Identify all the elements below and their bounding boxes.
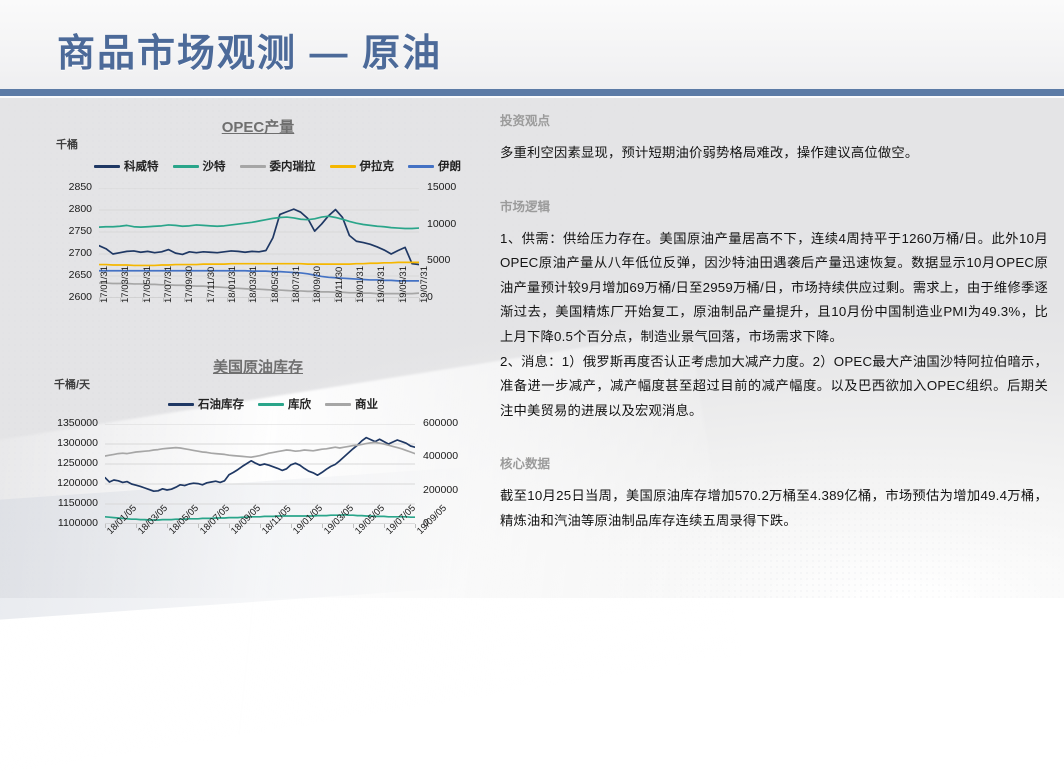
x-tick-label: 18/07/31 xyxy=(291,266,302,303)
x-tick-mark xyxy=(142,298,143,302)
legend-swatch-icon xyxy=(325,403,351,406)
y-tick-label: 1350000 xyxy=(0,417,98,429)
y-tick-label: 2850 xyxy=(0,181,92,193)
section-body-logic-1: 1、供需：供给压力存在。美国原油产量居高不下，连续4周持平于1260万桶/日。此… xyxy=(500,227,1048,350)
x-tick-label: 18/11/30 xyxy=(334,267,345,303)
x-tick-label: 17/09/30 xyxy=(184,266,195,303)
x-tick-mark xyxy=(270,298,271,302)
y2-tick-label: 15000 xyxy=(427,181,456,193)
series-line-3 xyxy=(99,262,419,265)
legend-swatch-icon xyxy=(94,165,120,168)
x-tick-label: 17/11/30 xyxy=(206,267,217,303)
section-heading-data: 核心数据 xyxy=(500,453,1048,472)
legend-swatch-icon xyxy=(173,165,199,168)
legend-item-0: 科威特 xyxy=(94,158,159,174)
header-accent-highlight xyxy=(0,96,1064,98)
y2-tick-label: 200000 xyxy=(423,484,458,496)
legend-label: 石油库存 xyxy=(198,396,244,412)
legend-label: 伊朗 xyxy=(438,158,461,174)
y-tick-label: 1100000 xyxy=(0,517,98,529)
chart-title-opec: OPEC产量 xyxy=(18,116,498,137)
legend-swatch-icon xyxy=(258,403,284,406)
series-line-1 xyxy=(99,216,419,228)
charts-column: OPEC产量 千桶 科威特沙特委内瑞拉伊拉克伊朗 260026502700275… xyxy=(0,104,480,598)
x-tick-mark xyxy=(376,298,377,302)
legend-label: 科威特 xyxy=(124,158,159,174)
legend-swatch-icon xyxy=(240,165,266,168)
x-tick-label: 17/01/31 xyxy=(99,266,110,303)
x-tick-mark xyxy=(291,298,292,302)
x-tick-mark xyxy=(184,298,185,302)
legend-swatch-icon xyxy=(168,403,194,406)
x-tick-mark xyxy=(163,298,164,302)
chart-unit-stocks: 千桶/天 xyxy=(54,376,90,392)
x-tick-mark xyxy=(167,524,168,528)
legend-label: 伊拉克 xyxy=(360,158,395,174)
series-line-0 xyxy=(99,209,419,264)
x-tick-label: 19/05/31 xyxy=(398,266,409,303)
header-accent-rule xyxy=(0,89,1064,96)
x-tick-mark xyxy=(206,298,207,302)
legend-item-3: 伊拉克 xyxy=(330,158,395,174)
y2-tick-label: 600000 xyxy=(423,417,458,429)
y-tick-label: 2650 xyxy=(0,269,92,281)
section-body-logic-2: 2、消息：1）俄罗斯再度否认正考虑加大减产力度。2）OPEC最大产油国沙特阿拉伯… xyxy=(500,350,1048,424)
y2-tick-label: 10000 xyxy=(427,218,456,230)
x-tick-mark xyxy=(312,298,313,302)
x-tick-label: 17/03/31 xyxy=(120,266,131,303)
x-tick-label: 17/07/31 xyxy=(163,266,174,303)
section-body-data: 截至10月25日当周，美国原油库存增加570.2万桶至4.389亿桶，市场预估为… xyxy=(500,484,1048,533)
legend-item-0: 石油库存 xyxy=(168,396,244,412)
section-heading-logic: 市场逻辑 xyxy=(500,196,1048,215)
x-tick-mark xyxy=(105,524,106,528)
legend-item-1: 沙特 xyxy=(173,158,226,174)
legend-swatch-icon xyxy=(330,165,356,168)
y-tick-label: 1300000 xyxy=(0,437,98,449)
x-tick-mark xyxy=(291,524,292,528)
page-title: 商品市场观测 — 原油 xyxy=(57,22,442,77)
x-tick-label: 19/03/31 xyxy=(376,266,387,303)
y-tick-label: 2800 xyxy=(0,203,92,215)
x-tick-mark xyxy=(136,524,137,528)
legend-item-4: 伊朗 xyxy=(408,158,461,174)
x-tick-label: 18/01/31 xyxy=(227,266,238,303)
x-tick-mark xyxy=(322,524,323,528)
series-line-2 xyxy=(105,442,415,457)
legend-item-2: 商业 xyxy=(325,396,378,412)
chart-unit-opec: 千桶 xyxy=(56,136,78,152)
analysis-panel: 投资观点 多重利空因素显现，预计短期油价弱势格局难改，操作建议高位做空。 市场逻… xyxy=(500,110,1048,534)
y-tick-label: 2750 xyxy=(0,225,92,237)
y2-tick-label: 5000 xyxy=(427,254,450,266)
x-tick-label: 18/05/31 xyxy=(270,266,281,303)
legend-label: 委内瑞拉 xyxy=(270,158,316,174)
x-tick-label: 18/09/30 xyxy=(312,266,323,303)
x-tick-mark xyxy=(384,524,385,528)
chart-opec-production: OPEC产量 千桶 科威特沙特委内瑞拉伊拉克伊朗 260026502700275… xyxy=(0,112,480,352)
legend-swatch-icon xyxy=(408,165,434,168)
slide-root: 商品市场观测 — 原油 OPEC产量 千桶 科威特沙特委内瑞拉伊拉克伊朗 260… xyxy=(0,0,1064,598)
x-tick-mark xyxy=(398,298,399,302)
x-tick-mark xyxy=(419,298,420,302)
y-tick-label: 2600 xyxy=(0,291,92,303)
x-tick-mark xyxy=(229,524,230,528)
chart-legend-stocks: 石油库存库欣商业 xyxy=(168,396,378,412)
chart-title-stocks: 美国原油库存 xyxy=(18,356,498,377)
legend-label: 商业 xyxy=(355,396,378,412)
x-tick-mark xyxy=(334,298,335,302)
x-tick-mark xyxy=(120,298,121,302)
x-tick-mark xyxy=(355,298,356,302)
x-tick-mark xyxy=(415,524,416,528)
y-tick-label: 1200000 xyxy=(0,477,98,489)
legend-label: 库欣 xyxy=(288,396,311,412)
section-body-view: 多重利空因素显现，预计短期油价弱势格局难改，操作建议高位做空。 xyxy=(500,141,1048,166)
chart-legend-opec: 科威特沙特委内瑞拉伊拉克伊朗 xyxy=(94,158,461,174)
legend-item-2: 委内瑞拉 xyxy=(240,158,316,174)
x-tick-mark xyxy=(198,524,199,528)
y-tick-label: 1150000 xyxy=(0,497,98,509)
slide-header: 商品市场观测 — 原油 xyxy=(0,0,1064,96)
section-heading-view: 投资观点 xyxy=(500,110,1048,129)
x-tick-label: 19/01/31 xyxy=(355,266,366,303)
y2-tick-label: 400000 xyxy=(423,450,458,462)
x-tick-mark xyxy=(260,524,261,528)
x-tick-label: 17/05/31 xyxy=(142,266,153,303)
x-tick-mark xyxy=(227,298,228,302)
x-tick-mark xyxy=(248,298,249,302)
y-tick-label: 2700 xyxy=(0,247,92,259)
x-tick-label: 19/09/05 xyxy=(415,503,449,537)
legend-item-1: 库欣 xyxy=(258,396,311,412)
x-tick-label: 19/07/31 xyxy=(419,266,430,303)
x-tick-mark xyxy=(99,298,100,302)
y-tick-label: 1250000 xyxy=(0,457,98,469)
x-tick-label: 18/03/31 xyxy=(248,266,259,303)
chart-us-crude-stocks: 美国原油库存 千桶/天 石油库存库欣商业 1100000115000012000… xyxy=(0,352,480,598)
legend-label: 沙特 xyxy=(203,158,226,174)
x-tick-mark xyxy=(353,524,354,528)
